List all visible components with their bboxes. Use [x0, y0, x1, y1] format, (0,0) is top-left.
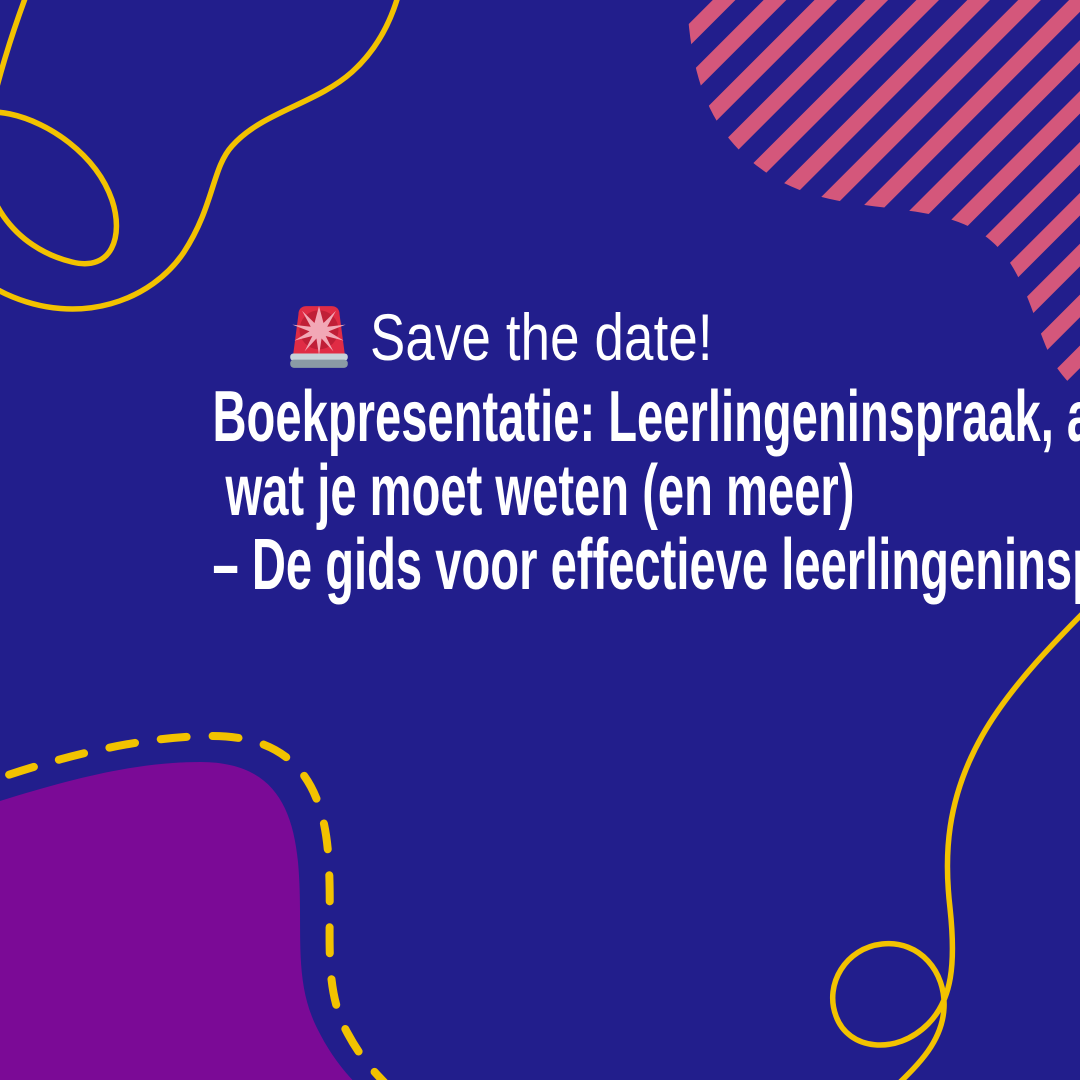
- police-car-light-emoji: [282, 300, 356, 374]
- headline-line-2: wat je moet weten (en meer): [213, 454, 868, 528]
- headline-line-1: Boekpresentatie: Leerlingeninspraak, all…: [213, 380, 868, 454]
- page-title: Boekpresentatie: Leerlingeninspraak, all…: [40, 380, 1040, 602]
- poster-canvas: Save the date! Boekpresentatie: Leerling…: [0, 0, 1080, 1080]
- save-the-date-label: Save the date!: [370, 304, 713, 370]
- headline-line-3: – De gids voor effectieve leerlingeninsp…: [213, 528, 868, 602]
- purple-blob-bottom-left: [0, 762, 368, 1080]
- poster-content: Save the date! Boekpresentatie: Leerling…: [0, 300, 1080, 602]
- squiggle-loop-top-left: [0, 0, 408, 309]
- dashed-outline-bottom-left: [0, 736, 400, 1080]
- squiggle-loop-bottom-right: [833, 600, 1080, 1080]
- save-the-date-row: Save the date!: [282, 300, 798, 374]
